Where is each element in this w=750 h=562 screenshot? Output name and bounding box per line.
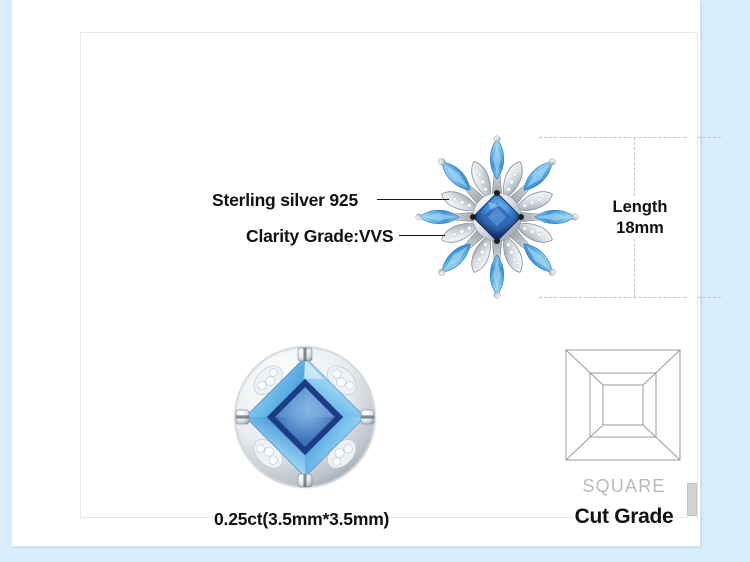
square-cut-diagram xyxy=(565,349,681,461)
length-measurement-label: Length 18mm xyxy=(609,197,671,239)
length-label-line2: 18mm xyxy=(609,218,671,239)
carat-weight-label: 0.25ct(3.5mm*3.5mm) xyxy=(214,509,389,530)
product-image-card: Sterling silver 925 Clarity Grade:VVS Le… xyxy=(12,0,700,546)
material-label: Sterling silver 925 xyxy=(212,190,358,211)
length-label-line1: Length xyxy=(609,197,671,218)
cut-grade-title: Cut Grade xyxy=(554,505,694,529)
scrollbar-track[interactable] xyxy=(688,34,696,518)
clarity-grade-label: Clarity Grade:VVS xyxy=(246,226,393,247)
page-root: Sterling silver 925 Clarity Grade:VVS Le… xyxy=(0,0,750,562)
cut-shape-name-label: SQUARE xyxy=(554,476,694,497)
square-cut-gem-closeup-image xyxy=(229,341,381,493)
material-leader-line xyxy=(377,199,449,200)
scrollbar-thumb[interactable] xyxy=(687,483,697,516)
infographic-panel: Sterling silver 925 Clarity Grade:VVS Le… xyxy=(80,32,698,518)
clarity-leader-line xyxy=(399,235,445,236)
snowflake-pendant-image xyxy=(411,131,583,303)
